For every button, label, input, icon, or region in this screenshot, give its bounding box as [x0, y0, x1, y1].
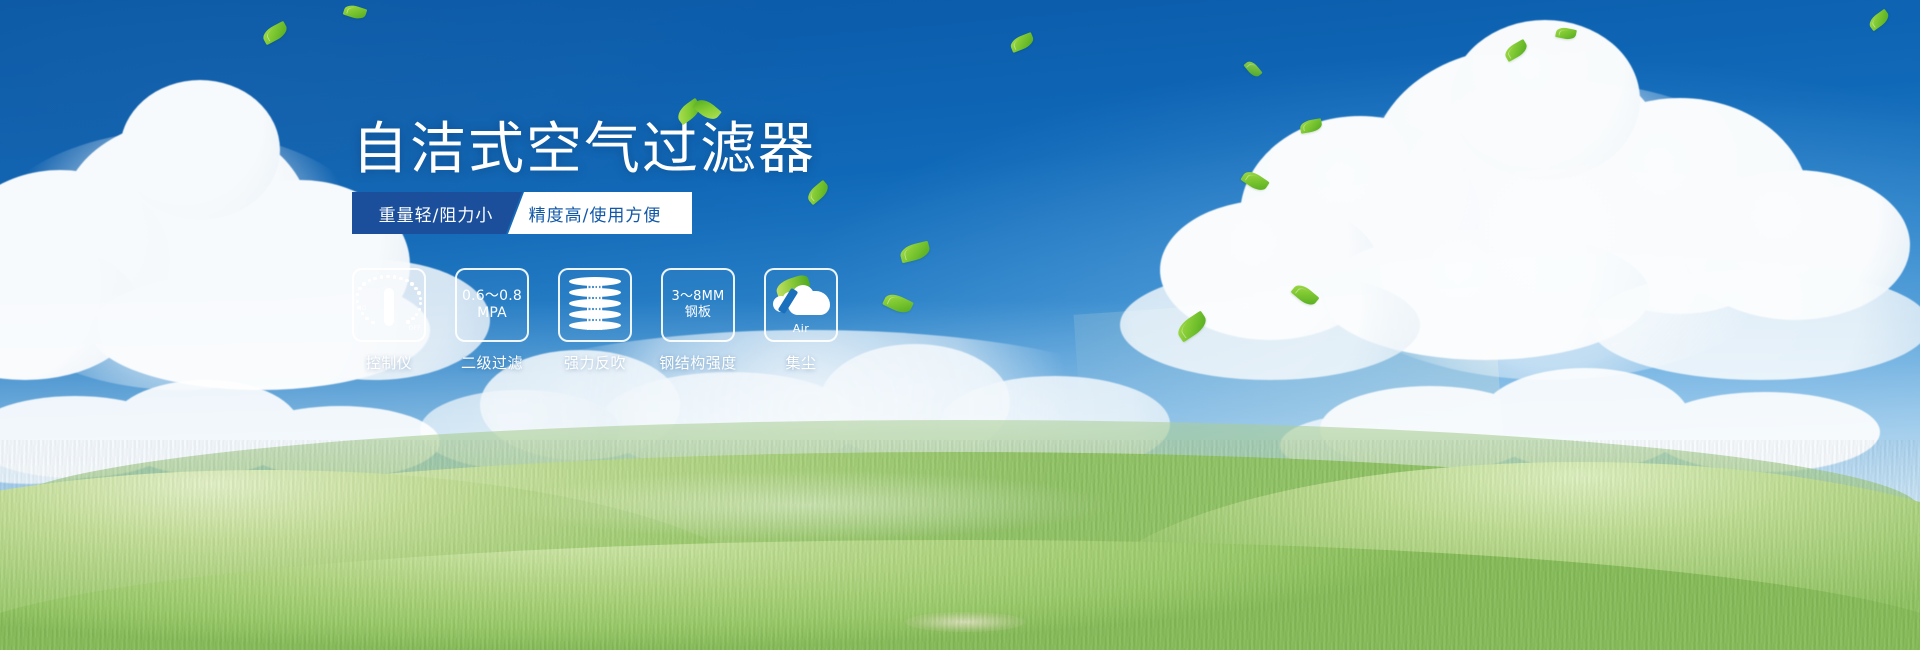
- pressure-unit: MPA: [462, 305, 522, 322]
- feature-icon-box: 0.6～0.8 MPA: [455, 268, 529, 342]
- air-label: Air: [772, 322, 830, 335]
- feature-item-dust-collection[interactable]: Air 集尘: [764, 268, 838, 373]
- pressure-range: 0.6～0.8: [462, 288, 522, 305]
- feature-item-controller[interactable]: NO OFF: [352, 268, 426, 373]
- feature-icon-box: 3～8MM 钢板: [661, 268, 735, 342]
- filter-stack-icon: [569, 277, 621, 333]
- cloud-air-icon: Air: [772, 280, 830, 330]
- feature-label: 强力反吹: [564, 352, 626, 373]
- page-title: 自洁式空气过滤器: [352, 120, 816, 180]
- feature-list: NO OFF: [352, 268, 838, 373]
- feature-icon-box: [558, 268, 632, 342]
- banner-stage: 自洁式空气过滤器 重量轻/阻力小 精度高/使用方便 NO OFF: [0, 0, 1920, 650]
- tab-precision-convenience[interactable]: 精度高/使用方便: [508, 192, 692, 234]
- feature-label: 集尘: [785, 352, 816, 373]
- gauge-label-off: OFF: [408, 325, 421, 332]
- steel-thickness: 3～8MM: [672, 289, 725, 305]
- feature-icon-box: Air: [764, 268, 838, 342]
- feature-label: 钢结构强度: [659, 352, 737, 373]
- feature-item-reverse-blow[interactable]: 强力反吹: [558, 268, 632, 373]
- gauge-dial-icon: NO OFF: [358, 274, 420, 336]
- feature-item-steel-strength[interactable]: 3～8MM 钢板 钢结构强度: [661, 268, 735, 373]
- feature-icon-box: NO OFF: [352, 268, 426, 342]
- feature-label: 二级过滤: [461, 352, 523, 373]
- feature-label: 控制仪: [366, 352, 413, 373]
- pressure-text-icon: 0.6～0.8 MPA: [462, 288, 522, 322]
- steel-plate-text-icon: 3～8MM 钢板: [672, 289, 725, 321]
- banner-content: 自洁式空气过滤器 重量轻/阻力小 精度高/使用方便 NO OFF: [0, 0, 1920, 650]
- feature-item-two-stage-filter[interactable]: 0.6～0.8 MPA 二级过滤: [455, 268, 529, 373]
- tab-weight-resistance[interactable]: 重量轻/阻力小: [352, 192, 522, 234]
- gauge-needle: [384, 288, 394, 326]
- feature-tabs: 重量轻/阻力小 精度高/使用方便: [352, 192, 692, 234]
- steel-material: 钢板: [672, 305, 725, 321]
- sprout-icon: [676, 94, 722, 134]
